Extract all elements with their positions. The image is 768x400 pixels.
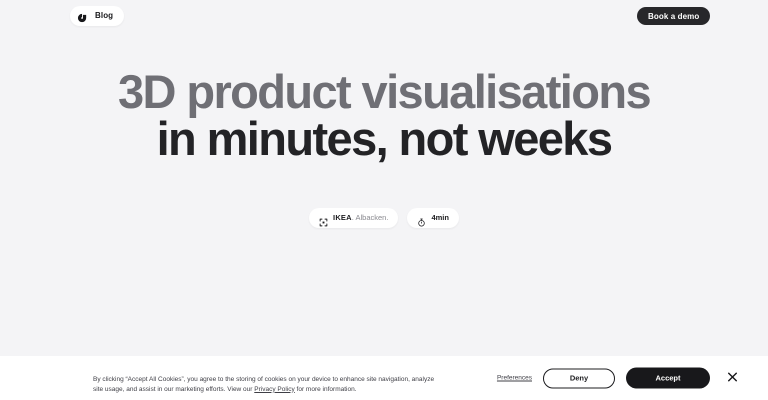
cookie-preferences-link[interactable]: Preferences (497, 375, 532, 382)
hero-section: 3D product visualisations in minutes, no… (0, 0, 768, 356)
chip-brand-name: IKEA (333, 213, 352, 222)
cookie-accept-button[interactable]: Accept (626, 368, 710, 389)
headline-line-1: 3D product visualisations (0, 68, 768, 115)
cookie-close-button[interactable] (724, 370, 740, 386)
chip-duration-label: 4min (431, 214, 449, 222)
hero-chip-row: IKEA. Albacken. 4min (0, 208, 768, 228)
stopwatch-icon (417, 214, 426, 223)
cookie-consent-message: By clicking “Accept All Cookies”, you ag… (93, 375, 443, 395)
close-icon (726, 370, 739, 386)
headline-line-2: in minutes, not weeks (0, 115, 768, 162)
three-d-cube-icon (319, 214, 328, 223)
chip-project-label: IKEA. Albacken. (333, 214, 388, 222)
privacy-policy-link[interactable]: Privacy Policy (254, 386, 294, 393)
chip-duration[interactable]: 4min (407, 208, 459, 228)
page-title: 3D product visualisations in minutes, no… (0, 68, 768, 162)
cookie-consent-banner: By clicking “Accept All Cookies”, you ag… (0, 356, 768, 400)
cookie-deny-button[interactable]: Deny (543, 368, 615, 388)
cookie-message-part-2: for more information. (295, 386, 357, 393)
landing-page: Blog Book a demo 3D product visualisatio… (0, 0, 768, 400)
chip-product-name: . Albacken. (352, 213, 389, 222)
cookie-consent-actions: Preferences Deny Accept (497, 368, 740, 389)
chip-project-ikea[interactable]: IKEA. Albacken. (309, 208, 398, 228)
